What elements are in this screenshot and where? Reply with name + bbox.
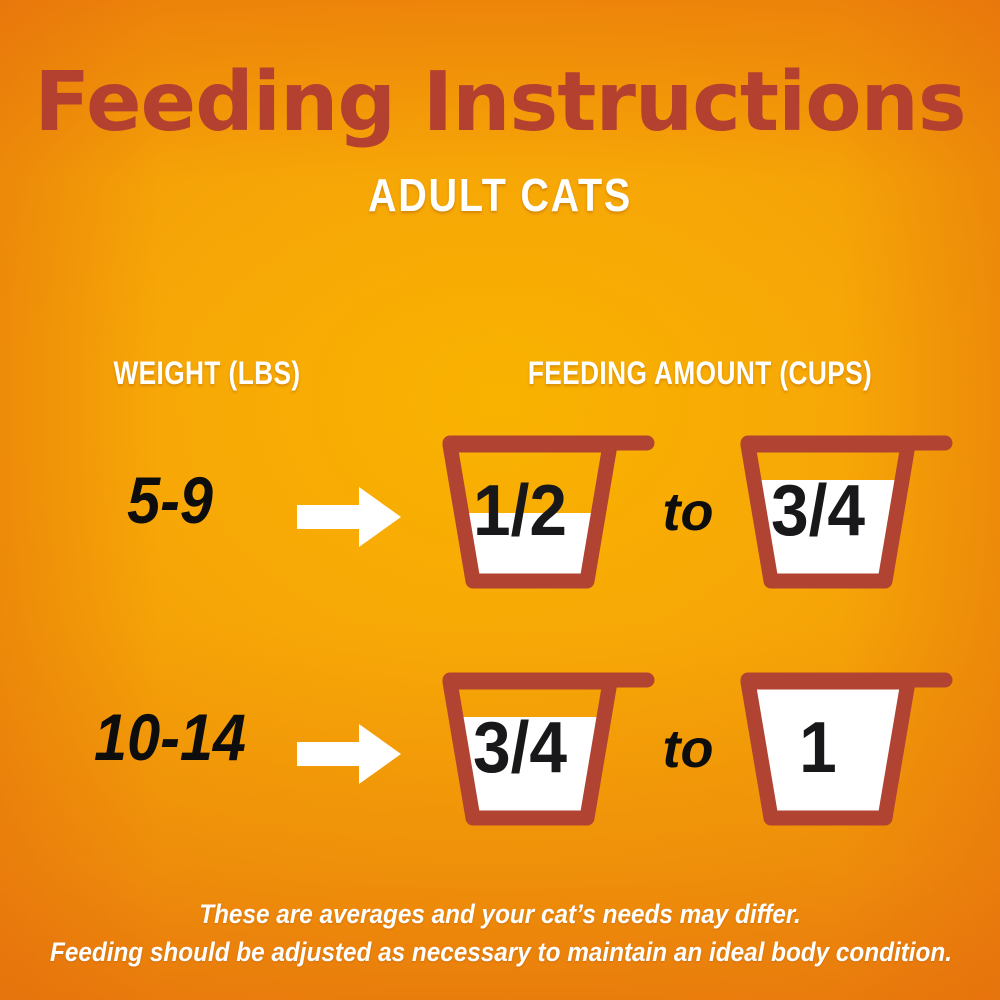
measuring-cup-max: 1 [722,660,972,835]
range-connector-label: to [648,485,728,539]
page-subtitle: ADULT CATS [70,172,930,218]
page-title: Feeding Instructions [0,62,1000,144]
measuring-cup-min: 1/2 [424,423,674,598]
measuring-cup-max: 3/4 [722,423,972,598]
footer-note: These are averages and your cat’s needs … [0,895,1000,971]
weight-range-label: 10-14 [62,704,278,770]
feeding-instructions-poster: Feeding Instructions ADULT CATS WEIGHT (… [0,0,1000,1000]
table-row: 5-9 1/2 to [0,415,1000,615]
table-row: 10-14 3/4 to [0,652,1000,852]
column-header-feeding-amount: FEEDING AMOUNT (CUPS) [499,357,901,389]
column-header-weight: WEIGHT (LBS) [72,357,343,389]
range-connector-label: to [648,722,728,776]
footer-line-1: These are averages and your cat’s needs … [50,895,950,933]
footer-line-2: Feeding should be adjusted as necessary … [50,933,950,971]
weight-range-label: 5-9 [62,467,278,533]
arrow-right-icon [297,724,401,784]
measuring-cup-min: 3/4 [424,660,674,835]
arrow-right-icon [297,487,401,547]
